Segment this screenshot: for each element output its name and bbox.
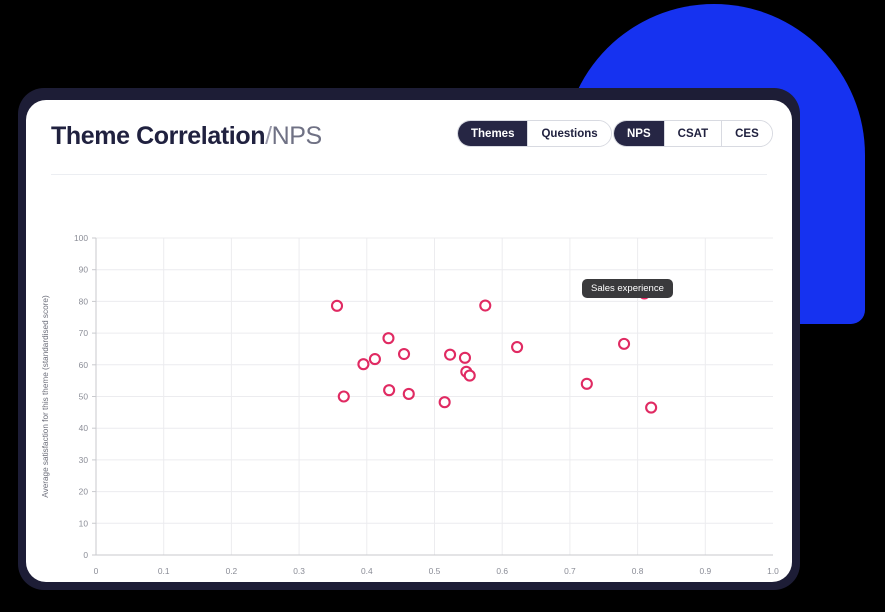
page-title-metric: NPS — [272, 122, 322, 150]
point-tooltip-label: Sales experience — [591, 283, 664, 294]
page-title: Theme Correlation/NPS — [51, 122, 322, 151]
point-tooltip: Sales experience — [582, 279, 673, 298]
y-tick-label: 90 — [79, 265, 89, 275]
x-tick-label: 0.2 — [226, 566, 238, 576]
scatter-chart: 0102030405060708090100 00.10.20.30.40.50… — [26, 174, 792, 582]
y-tick-label: 30 — [79, 455, 89, 465]
data-point[interactable] — [370, 354, 380, 364]
x-tick-label: 0.3 — [293, 566, 305, 576]
metric-toggle-option-ces[interactable]: CES — [721, 121, 772, 146]
x-tick-label: 0.4 — [361, 566, 373, 576]
data-point[interactable] — [465, 371, 475, 381]
data-point[interactable] — [646, 403, 656, 413]
y-tick-label: 10 — [79, 518, 89, 528]
scatter-plot-svg: 0102030405060708090100 00.10.20.30.40.50… — [26, 174, 792, 582]
theme-correlation-card: Theme Correlation/NPS Themes Questions N… — [26, 100, 792, 582]
x-axis-tick-labels: 00.10.20.30.40.50.60.70.80.91.0 — [94, 566, 779, 576]
y-tick-label: 40 — [79, 423, 89, 433]
data-point[interactable] — [460, 353, 470, 363]
y-tick-label: 0 — [83, 550, 88, 560]
view-toggle-option-themes[interactable]: Themes — [458, 121, 527, 146]
data-point[interactable] — [339, 392, 349, 402]
y-tick-label: 50 — [79, 392, 89, 402]
data-point[interactable] — [582, 379, 592, 389]
data-point[interactable] — [512, 342, 522, 352]
y-tick-label: 70 — [79, 328, 89, 338]
x-tick-label: 0.6 — [496, 566, 508, 576]
metric-toggle-option-csat[interactable]: CSAT — [664, 121, 721, 146]
x-tick-label: 1.0 — [767, 566, 779, 576]
metric-toggle-option-nps[interactable]: NPS — [614, 121, 664, 146]
y-axis-tick-labels: 0102030405060708090100 — [74, 233, 88, 560]
data-point[interactable] — [480, 301, 490, 311]
data-point[interactable] — [404, 389, 414, 399]
y-axis-title: Average satisfaction for this theme (sta… — [41, 295, 50, 498]
data-points-group — [332, 287, 656, 412]
data-point[interactable] — [399, 349, 409, 359]
data-point[interactable] — [332, 301, 342, 311]
data-point[interactable] — [383, 333, 393, 343]
card-header: Theme Correlation/NPS Themes Questions N… — [26, 100, 792, 174]
x-tick-label: 0.1 — [158, 566, 170, 576]
data-point[interactable] — [384, 385, 394, 395]
view-toggle-option-questions[interactable]: Questions — [527, 121, 610, 146]
y-tick-label: 20 — [79, 487, 89, 497]
data-point[interactable] — [440, 397, 450, 407]
page-title-main: Theme Correlation — [51, 122, 265, 150]
x-tick-label: 0.8 — [632, 566, 644, 576]
y-tick-label: 60 — [79, 360, 89, 370]
y-tick-label: 100 — [74, 233, 88, 243]
metric-toggle[interactable]: NPS CSAT CES — [613, 120, 773, 147]
data-point[interactable] — [445, 350, 455, 360]
x-tick-label: 0.7 — [564, 566, 576, 576]
x-tick-label: 0.5 — [429, 566, 441, 576]
y-tick-label: 80 — [79, 296, 89, 306]
x-tick-label: 0 — [94, 566, 99, 576]
data-point[interactable] — [619, 339, 629, 349]
data-point[interactable] — [358, 359, 368, 369]
x-tick-label: 0.9 — [699, 566, 711, 576]
view-toggle[interactable]: Themes Questions — [457, 120, 612, 147]
